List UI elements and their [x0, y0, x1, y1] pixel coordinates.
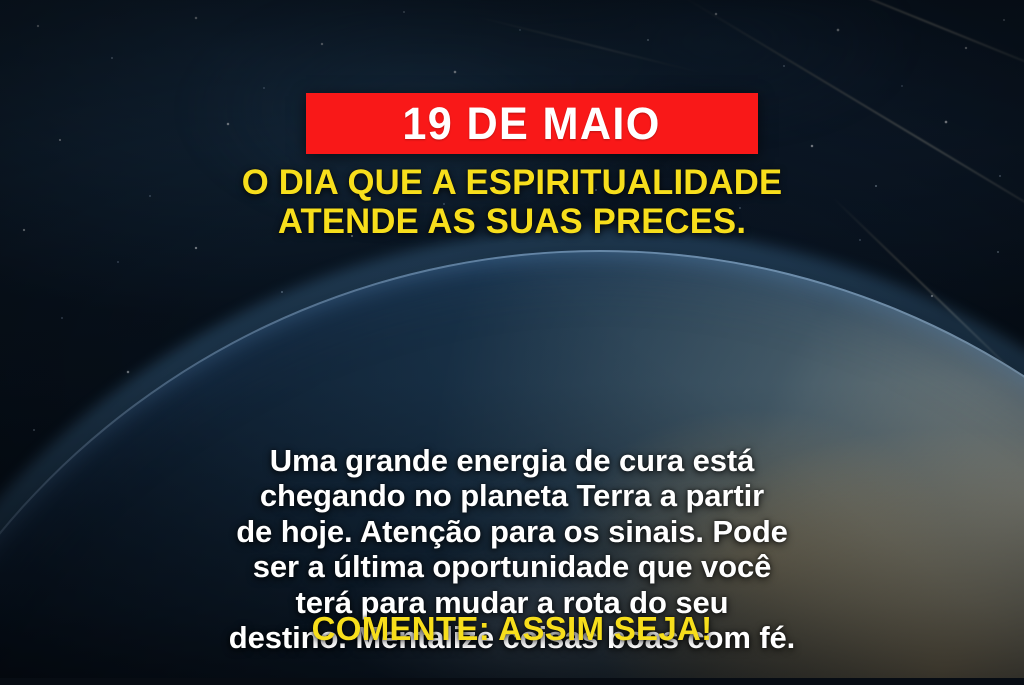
body-line-3: de hoje. Atenção para os sinais. Pode — [0, 514, 1024, 549]
date-badge: 19 DE MAIO — [306, 93, 758, 154]
call-to-action-text: COMENTE: ASSIM SEJA! — [0, 612, 1024, 645]
headline-line-2: ATENDE AS SUAS PRECES. — [5, 202, 1019, 241]
body-line-2: chegando no planeta Terra a partir — [0, 478, 1024, 513]
poster-canvas: 19 DE MAIO O DIA QUE A ESPIRITUALIDADE A… — [0, 0, 1024, 685]
body-line-1: Uma grande energia de cura está — [0, 443, 1024, 478]
date-badge-label: 19 DE MAIO — [403, 101, 661, 146]
bottom-strip — [0, 678, 1024, 685]
headline: O DIA QUE A ESPIRITUALIDADE ATENDE AS SU… — [5, 163, 1019, 241]
body-line-4: ser a última oportunidade que você — [0, 549, 1024, 584]
poster-content: 19 DE MAIO O DIA QUE A ESPIRITUALIDADE A… — [0, 0, 1024, 685]
headline-line-1: O DIA QUE A ESPIRITUALIDADE — [5, 163, 1019, 202]
